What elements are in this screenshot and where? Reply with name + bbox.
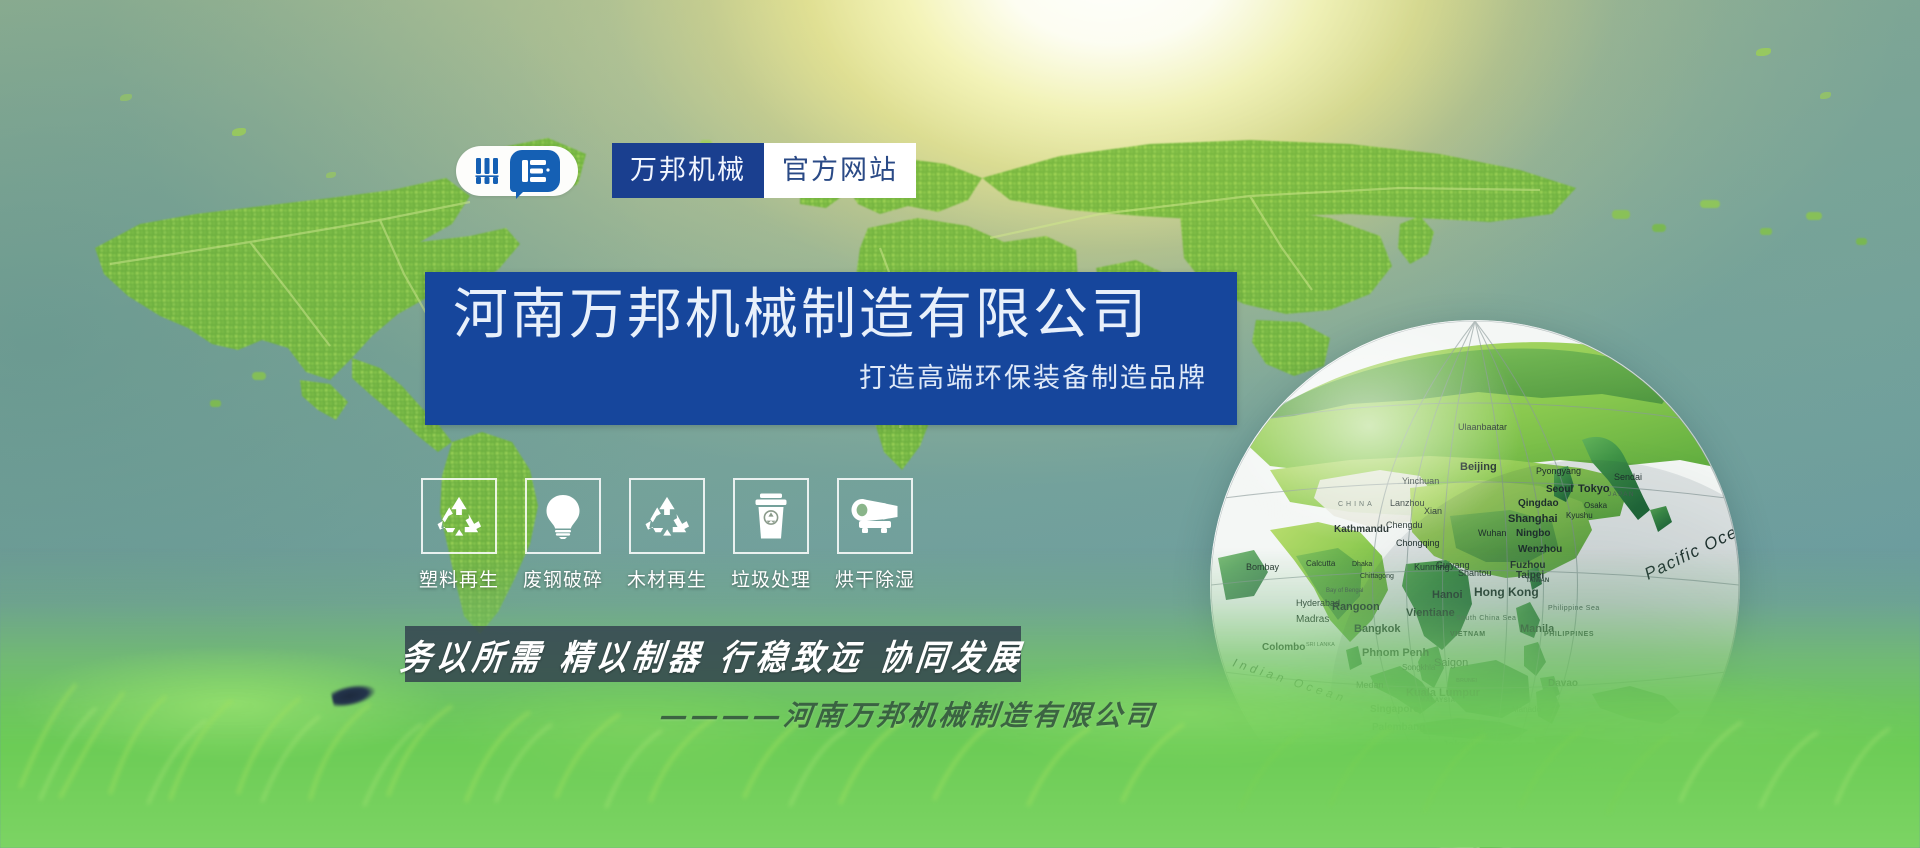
- feature-icon-row: 塑料再生 废钢破碎: [420, 478, 914, 592]
- nav-item-brand-label: 万邦机械: [630, 157, 746, 184]
- svg-text:CHINA: CHINA: [1338, 501, 1375, 508]
- feature-icon-box: [421, 478, 497, 554]
- wanbang-logo[interactable]: [456, 146, 578, 196]
- recycle-icon: [436, 493, 482, 539]
- slogan-banner: 务以所需 精以制器 行稳致远 协同发展: [405, 626, 1021, 682]
- feature-icon-box: [629, 478, 705, 554]
- feature-icon-box: [525, 478, 601, 554]
- svg-text:Ulaanbaatar: Ulaanbaatar: [1458, 422, 1507, 432]
- feature-label: 烘干除湿: [835, 565, 915, 592]
- company-tagline: 打造高端环保装备制造品牌: [453, 356, 1207, 395]
- nav-item-official-site[interactable]: 官方网站: [764, 143, 916, 198]
- feature-label: 垃圾处理: [731, 565, 811, 592]
- feature-icon-box: [837, 478, 913, 554]
- feature-label: 废钢破碎: [523, 565, 603, 592]
- header-nav: 万邦机械 官方网站: [612, 143, 916, 198]
- svg-text:Yinchuan: Yinchuan: [1402, 476, 1439, 486]
- trash-bin-icon: [751, 492, 791, 540]
- dryer-icon: [850, 497, 900, 535]
- feature-icon-box: [733, 478, 809, 554]
- company-name: 河南万邦机械制造有限公司: [453, 286, 1207, 344]
- feature-item-plastic-recycling[interactable]: 塑料再生: [420, 478, 498, 592]
- site-header: 万邦机械 官方网站: [456, 143, 916, 198]
- feature-label: 木材再生: [627, 565, 707, 592]
- slogan-attribution: ————河南万邦机械制造有限公司: [658, 694, 1263, 734]
- slogan-text: 务以所需 精以制器 行稳致远 协同发展: [398, 629, 1028, 679]
- feature-item-wood-recycling[interactable]: 木材再生: [628, 478, 706, 592]
- nav-item-official-site-label: 官方网站: [782, 157, 898, 184]
- feature-item-waste-treatment[interactable]: 垃圾处理: [732, 478, 810, 592]
- feature-item-scrap-steel-crushing[interactable]: 废钢破碎: [524, 478, 602, 592]
- feature-label: 塑料再生: [419, 565, 499, 592]
- svg-text:Beijing: Beijing: [1460, 461, 1497, 473]
- nav-item-brand[interactable]: 万邦机械: [612, 143, 764, 198]
- lightbulb-icon: [541, 493, 585, 539]
- hero-title-banner: 河南万邦机械制造有限公司 打造高端环保装备制造品牌: [425, 272, 1237, 425]
- recycle-icon: [644, 493, 690, 539]
- svg-text:Lanzhou: Lanzhou: [1390, 498, 1425, 508]
- feature-item-drying-dehumidifying[interactable]: 烘干除湿: [836, 478, 914, 592]
- hero-banner: Pacific Ocean Indian Ocean South China S…: [0, 0, 1920, 848]
- logo-w-icon: [474, 156, 508, 186]
- logo-b-bubble-icon: [510, 150, 560, 192]
- svg-text:Kathmandu: Kathmandu: [1334, 524, 1389, 535]
